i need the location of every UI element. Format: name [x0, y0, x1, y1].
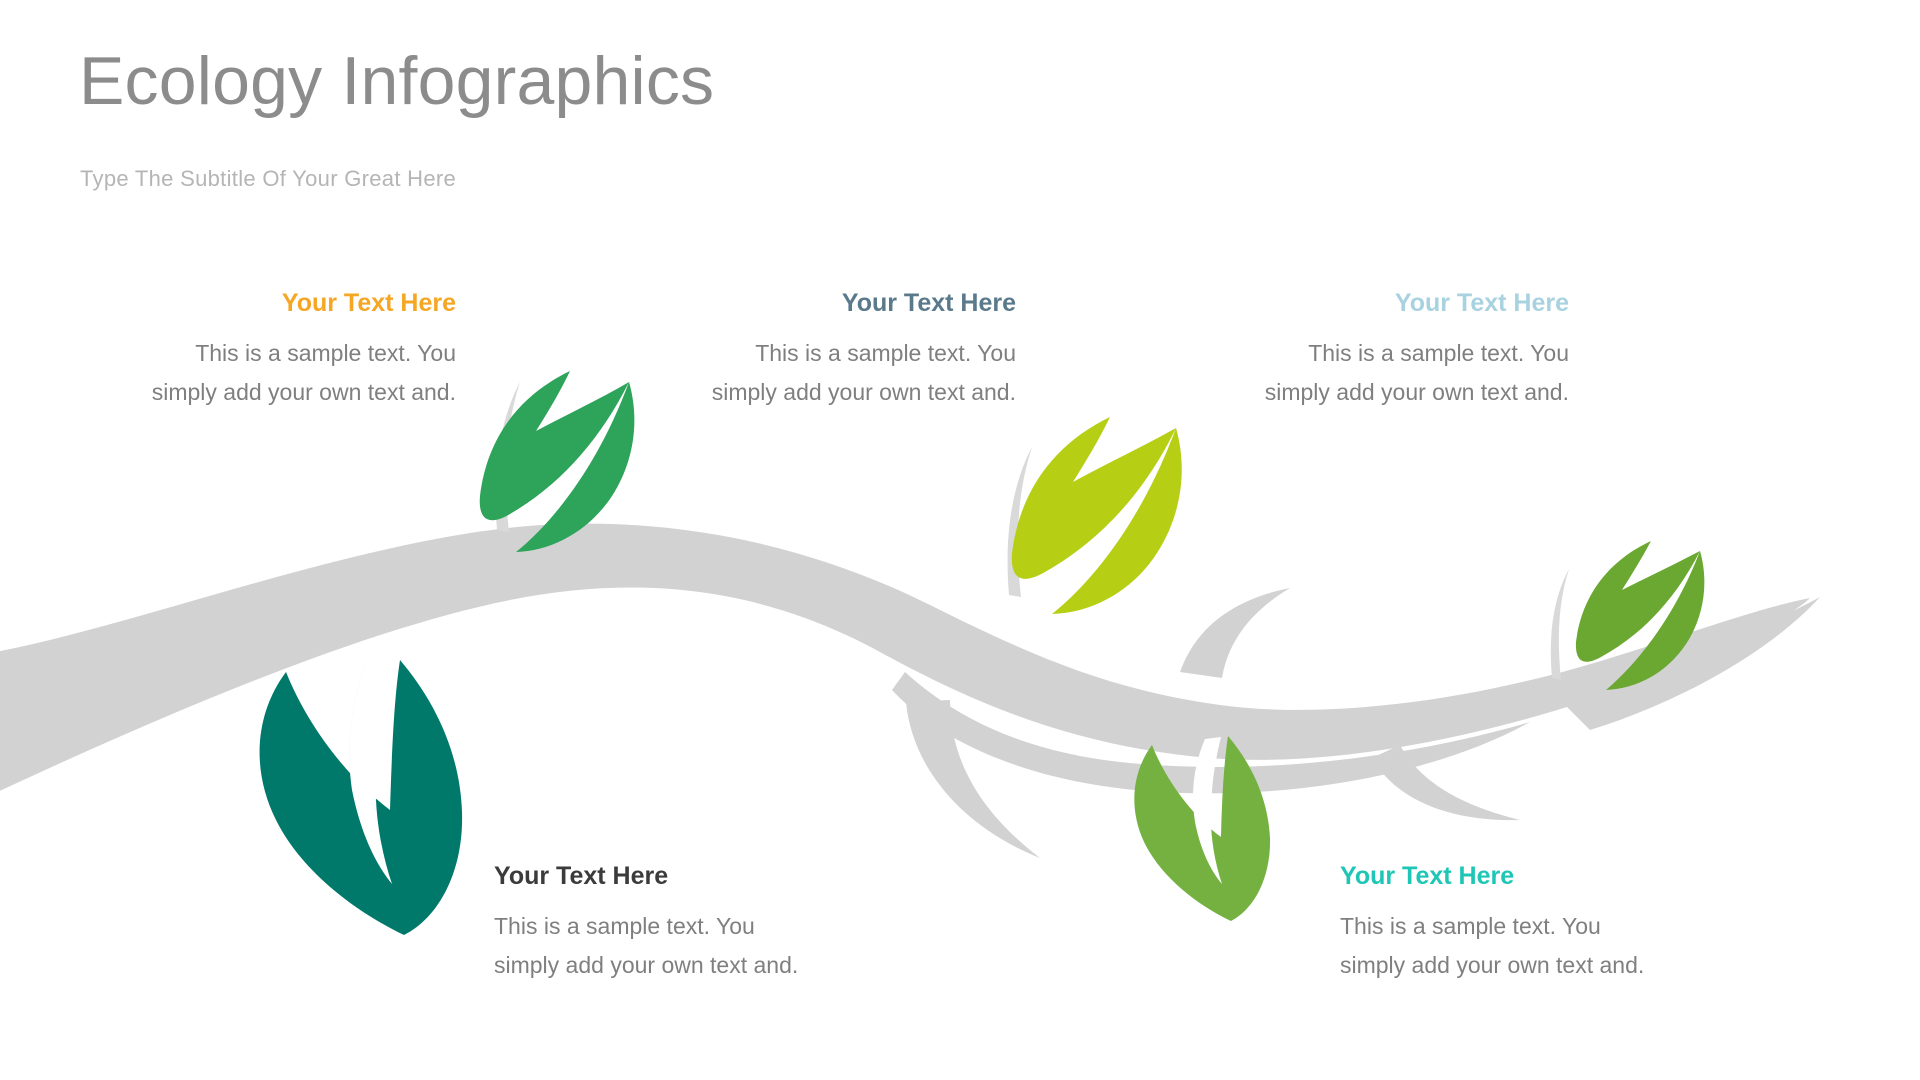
leaf-green-up-blade	[480, 371, 635, 552]
branch-lower-fork	[892, 672, 1530, 793]
tree-branch	[0, 524, 1820, 858]
callout-3[interactable]: Your Text Here This is a sample text. Yo…	[1197, 290, 1569, 413]
callout-3-title: Your Text Here	[1197, 290, 1569, 318]
leaf-olive-up	[1551, 541, 1705, 690]
callout-2-body: This is a sample text. You simply add yo…	[644, 334, 1016, 413]
callout-2[interactable]: Your Text Here This is a sample text. Yo…	[644, 290, 1016, 413]
callout-3-body-line-2: simply add your own text and.	[1265, 379, 1569, 405]
leaf-teal-down-notch	[349, 664, 392, 884]
callout-4-body-line-1: This is a sample text. You	[494, 913, 755, 939]
leaf-green-down	[1134, 736, 1270, 921]
branch-main-stroke	[0, 524, 1810, 800]
callout-2-body-line-1: This is a sample text. You	[755, 340, 1016, 366]
callout-4-title: Your Text Here	[494, 863, 866, 891]
leaf-lime-up-stem	[1008, 447, 1032, 597]
page-title: Ecology Infographics	[79, 47, 714, 115]
callout-4-body: This is a sample text. You simply add yo…	[494, 907, 866, 986]
callout-1[interactable]: Your Text Here This is a sample text. Yo…	[84, 290, 456, 413]
callout-5-title: Your Text Here	[1340, 863, 1712, 891]
slide-canvas: Ecology Infographics Type The Subtitle O…	[0, 0, 1920, 1080]
callout-4[interactable]: Your Text Here This is a sample text. Yo…	[494, 863, 866, 986]
leaf-lime-up	[1008, 417, 1182, 614]
branch-spur-up	[1180, 588, 1290, 678]
leaf-olive-up-blade	[1576, 541, 1704, 690]
callout-3-body: This is a sample text. You simply add yo…	[1197, 334, 1569, 413]
callout-2-title: Your Text Here	[644, 290, 1016, 318]
branch-spur-down-left	[906, 700, 1040, 858]
branch-spur-down-right	[1372, 745, 1520, 820]
leaf-green-down-stem	[1193, 739, 1211, 822]
leaf-green-down-blade	[1134, 736, 1270, 921]
leaf-green-up	[480, 371, 635, 552]
leaf-teal-down	[260, 660, 463, 935]
page-subtitle: Type The Subtitle Of Your Great Here	[80, 166, 456, 192]
leaf-lime-up-blade	[1012, 417, 1182, 614]
callout-5-body: This is a sample text. You simply add yo…	[1340, 907, 1712, 986]
callout-4-body-line-2: simply add your own text and.	[494, 952, 798, 978]
callout-1-body-line-2: simply add your own text and.	[152, 379, 456, 405]
callout-1-body-line-1: This is a sample text. You	[195, 340, 456, 366]
callout-1-body: This is a sample text. You simply add yo…	[84, 334, 456, 413]
leaf-green-up-stem	[496, 382, 520, 532]
callout-1-title: Your Text Here	[84, 290, 456, 318]
branch-right-tip	[1560, 597, 1820, 730]
callout-5-body-line-2: simply add your own text and.	[1340, 952, 1644, 978]
leaf-olive-up-stem	[1551, 569, 1569, 680]
leaf-teal-down-stem	[349, 666, 374, 790]
callout-3-body-line-1: This is a sample text. You	[1308, 340, 1569, 366]
leaf-teal-down-blade	[260, 660, 463, 935]
leaf-green-down-notch	[1193, 737, 1222, 884]
callout-2-body-line-2: simply add your own text and.	[712, 379, 1016, 405]
callout-5[interactable]: Your Text Here This is a sample text. Yo…	[1340, 863, 1712, 986]
callout-5-body-line-1: This is a sample text. You	[1340, 913, 1601, 939]
